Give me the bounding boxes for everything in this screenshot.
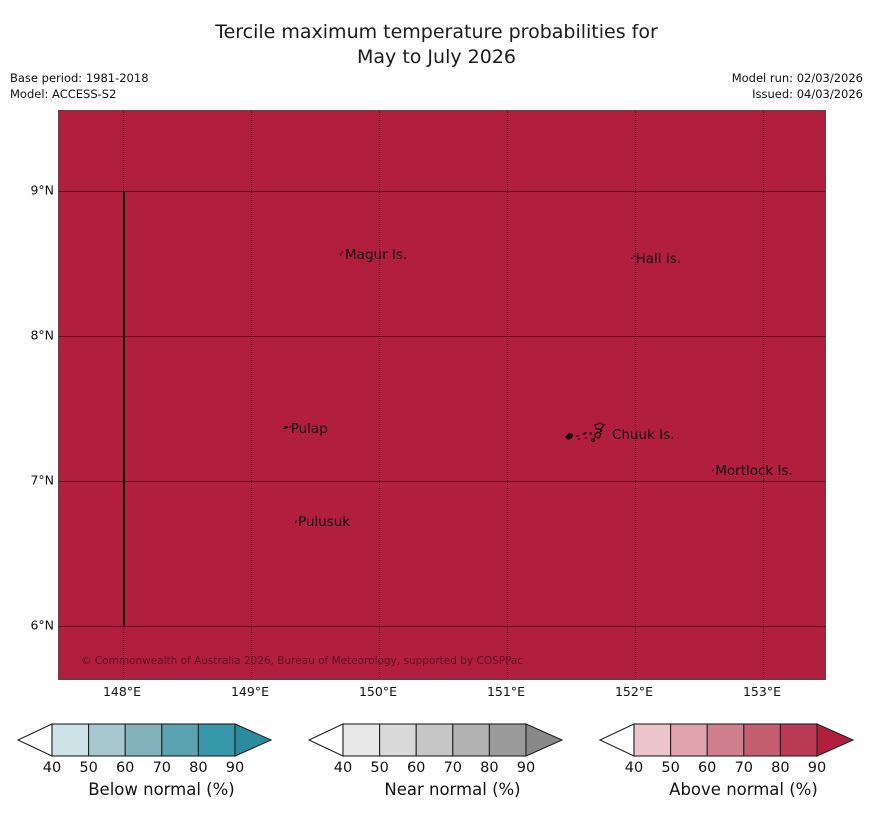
colorbar-tick-label: 50 (69, 760, 109, 776)
colorbar-below-normal: 405060708090Below normal (%) (16, 714, 307, 814)
map-gridline-vertical (763, 111, 764, 679)
colorbar-caption: Below normal (%) (16, 780, 307, 799)
colorbar-tick-label: 80 (469, 760, 509, 776)
metadata-left: Base period: 1981-2018 Model: ACCESS-S2 (10, 70, 149, 102)
place-name-text: Pulap (291, 422, 328, 437)
colorbar-ticks: 405060708090 (16, 760, 307, 780)
colorbar-tick-label: 70 (433, 760, 473, 776)
place-name-text: Magur Is. (345, 248, 407, 263)
model-text: Model: ACCESS-S2 (10, 86, 149, 102)
place-name-text: Mortlock Is. (715, 464, 793, 479)
colorbar-caption: Near normal (%) (307, 780, 598, 799)
map-place-label: Pulap (282, 422, 328, 438)
title-line-1: Tercile maximum temperature probabilitie… (0, 20, 873, 45)
longitude-tick-label: 152°E (594, 684, 674, 699)
colorbar-tick-label: 80 (178, 760, 218, 776)
map-place-label: Hall Is. (629, 252, 682, 268)
colorbar-ticks: 405060708090 (598, 760, 873, 780)
place-name-text: Pulusuk (298, 515, 350, 530)
colorbar-tick-label: 90 (797, 760, 837, 776)
colorbar-tick-label: 70 (724, 760, 764, 776)
copyright-text: © Commonwealth of Australia 2026, Bureau… (81, 655, 523, 667)
colorbar-ticks: 405060708090 (307, 760, 598, 780)
map-gridline-vertical (379, 111, 380, 679)
base-period-text: Base period: 1981-2018 (10, 70, 149, 86)
place-name-text: Chuuk Is. (612, 428, 675, 443)
colorbar-near-normal: 405060708090Near normal (%) (307, 714, 598, 814)
map-place-label: Magur Is. (338, 248, 407, 264)
island-marker-icon (562, 421, 614, 451)
colorbar-tick-label: 40 (32, 760, 72, 776)
colorbar-tick-label: 60 (687, 760, 727, 776)
map-gridline-horizontal (59, 191, 825, 192)
map-gridline-vertical (635, 111, 636, 679)
map-gridline-horizontal (59, 626, 825, 627)
colorbar-tick-label: 60 (105, 760, 145, 776)
map-boundary-line (123, 191, 125, 626)
latitude-tick-label: 6°N (2, 617, 54, 632)
colorbar-above-normal: 405060708090Above normal (%) (598, 714, 873, 814)
colorbar-tick-label: 40 (323, 760, 363, 776)
latitude-tick-label: 9°N (2, 182, 54, 197)
map-place-label: Mortlock Is. (709, 464, 793, 480)
longitude-tick-label: 150°E (338, 684, 418, 699)
title-line-2: May to July 2026 (0, 45, 873, 70)
colorbar-tick-label: 70 (142, 760, 182, 776)
map-gridline-vertical (251, 111, 252, 679)
map-plot-area[interactable]: Magur Is.Hall Is.PulapChuuk Is.Mortlock … (58, 110, 826, 680)
longitude-tick-label: 151°E (466, 684, 546, 699)
colorbar-legends: 405060708090Below normal (%)405060708090… (0, 714, 873, 814)
colorbar-tick-label: 80 (760, 760, 800, 776)
place-name-text: Hall Is. (636, 252, 682, 267)
map-place-label: Chuuk Is. (612, 421, 675, 451)
colorbar-tick-label: 50 (360, 760, 400, 776)
map-place-label: Pulusuk (292, 515, 350, 531)
colorbar-tick-label: 40 (614, 760, 654, 776)
map-gridline-vertical (507, 111, 508, 679)
colorbar-gradient (598, 720, 873, 760)
issued-text: Issued: 04/03/2026 (732, 86, 863, 102)
latitude-tick-label: 8°N (2, 327, 54, 342)
colorbar-tick-label: 50 (651, 760, 691, 776)
latitude-axis: 9°N8°N7°N6°N (0, 110, 54, 680)
colorbar-tick-label: 60 (396, 760, 436, 776)
longitude-tick-label: 153°E (722, 684, 802, 699)
map-gridline-horizontal (59, 481, 825, 482)
colorbar-gradient (16, 720, 307, 760)
colorbar-gradient (307, 720, 598, 760)
longitude-tick-label: 149°E (210, 684, 290, 699)
metadata-right: Model run: 02/03/2026 Issued: 04/03/2026 (732, 70, 863, 102)
longitude-tick-label: 148°E (82, 684, 162, 699)
probability-shading-layer (59, 111, 825, 679)
page-title: Tercile maximum temperature probabilitie… (0, 20, 873, 70)
map-gridline-horizontal (59, 336, 825, 337)
colorbar-tick-label: 90 (506, 760, 546, 776)
colorbar-tick-label: 90 (215, 760, 255, 776)
model-run-text: Model run: 02/03/2026 (732, 70, 863, 86)
colorbar-caption: Above normal (%) (598, 780, 873, 799)
longitude-axis: 148°E149°E150°E151°E152°E153°E (58, 684, 826, 706)
latitude-tick-label: 7°N (2, 472, 54, 487)
